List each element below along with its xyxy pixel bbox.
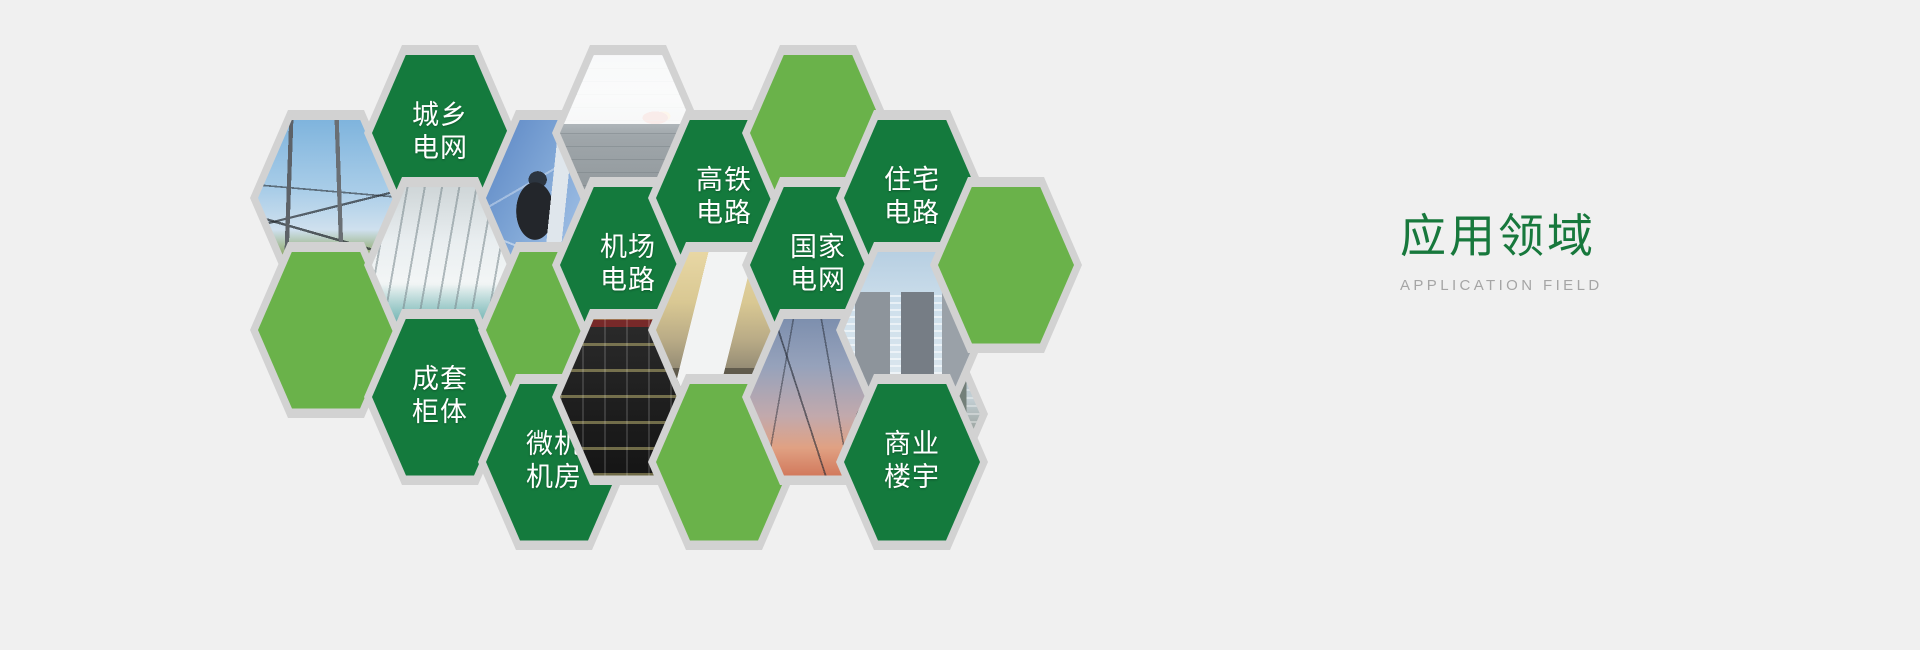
hex-label: 成套 柜体 (412, 364, 468, 430)
application-field-banner: 城乡 电网 成套 柜体 微机 机房 机场 电路 高铁 电路 (0, 0, 1920, 650)
page-title: 应用领域 (1400, 213, 1840, 259)
heading-block: 应用领域 APPLICATION FIELD (1400, 213, 1840, 294)
hex-label: 机场 电路 (600, 232, 656, 298)
hex-label: 住宅 电路 (884, 165, 940, 231)
page-subtitle: APPLICATION FIELD (1400, 277, 1840, 294)
hex-label: 国家 电网 (790, 232, 846, 298)
hex-label: 高铁 电路 (696, 165, 752, 231)
hex-label: 商业 楼宇 (884, 429, 940, 495)
hex-label: 城乡 电网 (412, 100, 468, 166)
